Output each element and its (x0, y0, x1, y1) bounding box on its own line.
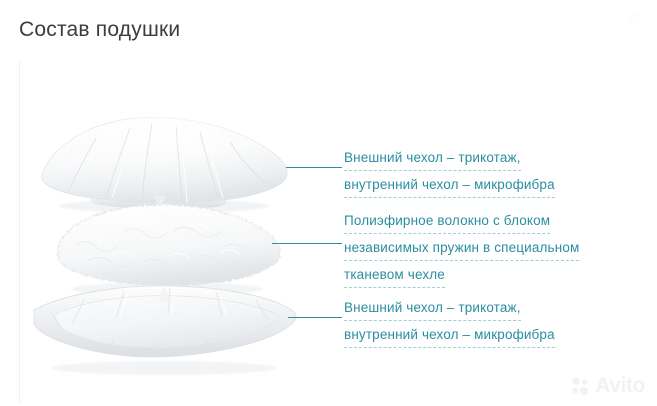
callout-line: Полиэфирное волокно с блоком (344, 210, 550, 234)
callout-line: внутренний чехол – микрофибра (344, 174, 555, 198)
page-root: Состав подушки (0, 0, 657, 406)
page-title: Состав подушки (19, 16, 180, 44)
callout-line: независимых пружин в специальном (344, 237, 579, 261)
callout-line: внутренний чехол – микрофибра (344, 324, 555, 348)
avito-watermark-text: Avito (595, 374, 645, 398)
callout-line: Внешний чехол – трикотаж, (344, 147, 521, 171)
pillow-flat-cover-icon (28, 280, 300, 380)
callout-outer-cover-top: Внешний чехол – трикотаж, внутренний чех… (344, 147, 644, 201)
avito-logo-icon (570, 376, 591, 397)
avito-watermark: Avito (570, 374, 645, 398)
pillow-composition-diagram: Внешний чехол – трикотаж, внутренний чех… (0, 62, 657, 402)
callout-line: Внешний чехол – трикотаж, (344, 297, 521, 321)
leader-line-outer-cover-bottom (288, 317, 342, 318)
corner-speck-decoration (629, 10, 639, 20)
callout-outer-cover-bottom: Внешний чехол – трикотаж, внутренний чех… (344, 297, 644, 351)
callout-line: тканевом чехле (344, 264, 445, 288)
leader-line-fiber-core (272, 243, 342, 244)
leader-line-outer-cover-top (286, 167, 342, 168)
callout-fiber-core: Полиэфирное волокно с блоком независимых… (344, 210, 644, 291)
